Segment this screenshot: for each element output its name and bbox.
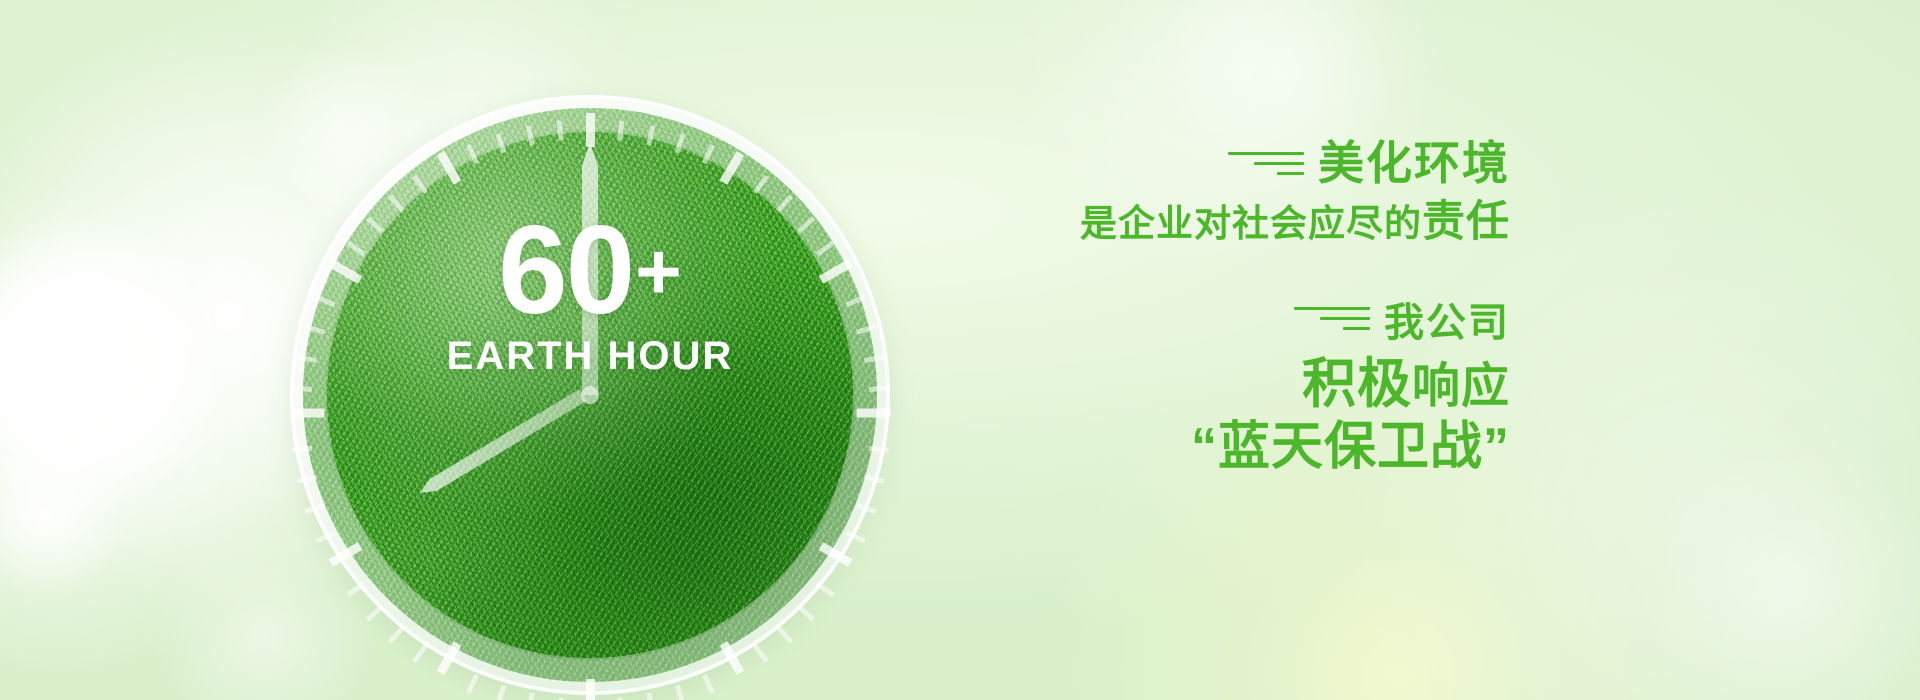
deco-line-long-two	[1294, 307, 1370, 310]
headline-primary: 美化环境	[1318, 140, 1510, 188]
copy-block-one: 美化环境 是企业对社会应尽的责任	[1080, 140, 1510, 246]
subline-emphasis: 责任	[1422, 198, 1510, 246]
headline-secondary: 我公司	[1384, 290, 1510, 348]
clock-tick-minor	[674, 685, 685, 700]
subline-plain: 是企业对社会应尽的	[1080, 203, 1422, 244]
slogan-quote: “蓝天保卫战”	[1080, 418, 1510, 477]
headline-row: 美化环境	[1080, 140, 1510, 188]
deco-line-short	[1277, 172, 1304, 175]
slogan-rest: 响应	[1412, 360, 1510, 413]
clock-tick-minor	[466, 674, 479, 694]
marketing-copy: 美化环境 是企业对社会应尽的责任 我公司 积极响应 “蓝天保卫战”	[1080, 140, 1510, 477]
deco-line-short-two	[1343, 327, 1370, 330]
deco-line-long	[1228, 152, 1304, 155]
decorative-lines-icon-two	[1294, 307, 1370, 330]
bokeh-light-5	[1640, 440, 1920, 700]
bokeh-light-1	[0, 215, 230, 515]
copy-block-two: 我公司 积极响应 “蓝天保卫战”	[1080, 290, 1510, 477]
grass-clock-graphic: 60+ EARTH HOUR	[290, 95, 890, 695]
slogan-strong: 积极	[1302, 354, 1412, 414]
deco-line-mid	[1254, 162, 1304, 165]
clock-tick-minor	[753, 644, 769, 663]
bokeh-light-2	[0, 430, 130, 600]
clock-tick-minor	[525, 692, 534, 700]
clock-tick-minor	[495, 685, 506, 700]
slogan-line: 积极响应	[1080, 354, 1510, 416]
earth-hour-banner: 60+ EARTH HOUR 美化环境 是企业对社会应尽的责任	[0, 0, 1920, 700]
clock-center-cap	[581, 386, 599, 404]
subline-primary: 是企业对社会应尽的责任	[1080, 198, 1510, 246]
clock-tick-minor	[646, 692, 655, 700]
clock-tick-minor	[702, 674, 715, 694]
decorative-lines-icon	[1228, 152, 1304, 175]
clock-tick-minor	[412, 644, 428, 663]
deco-line-mid-two	[1320, 317, 1370, 320]
bokeh-light-6	[1250, 560, 1550, 700]
headline-row-two: 我公司	[1080, 290, 1510, 348]
